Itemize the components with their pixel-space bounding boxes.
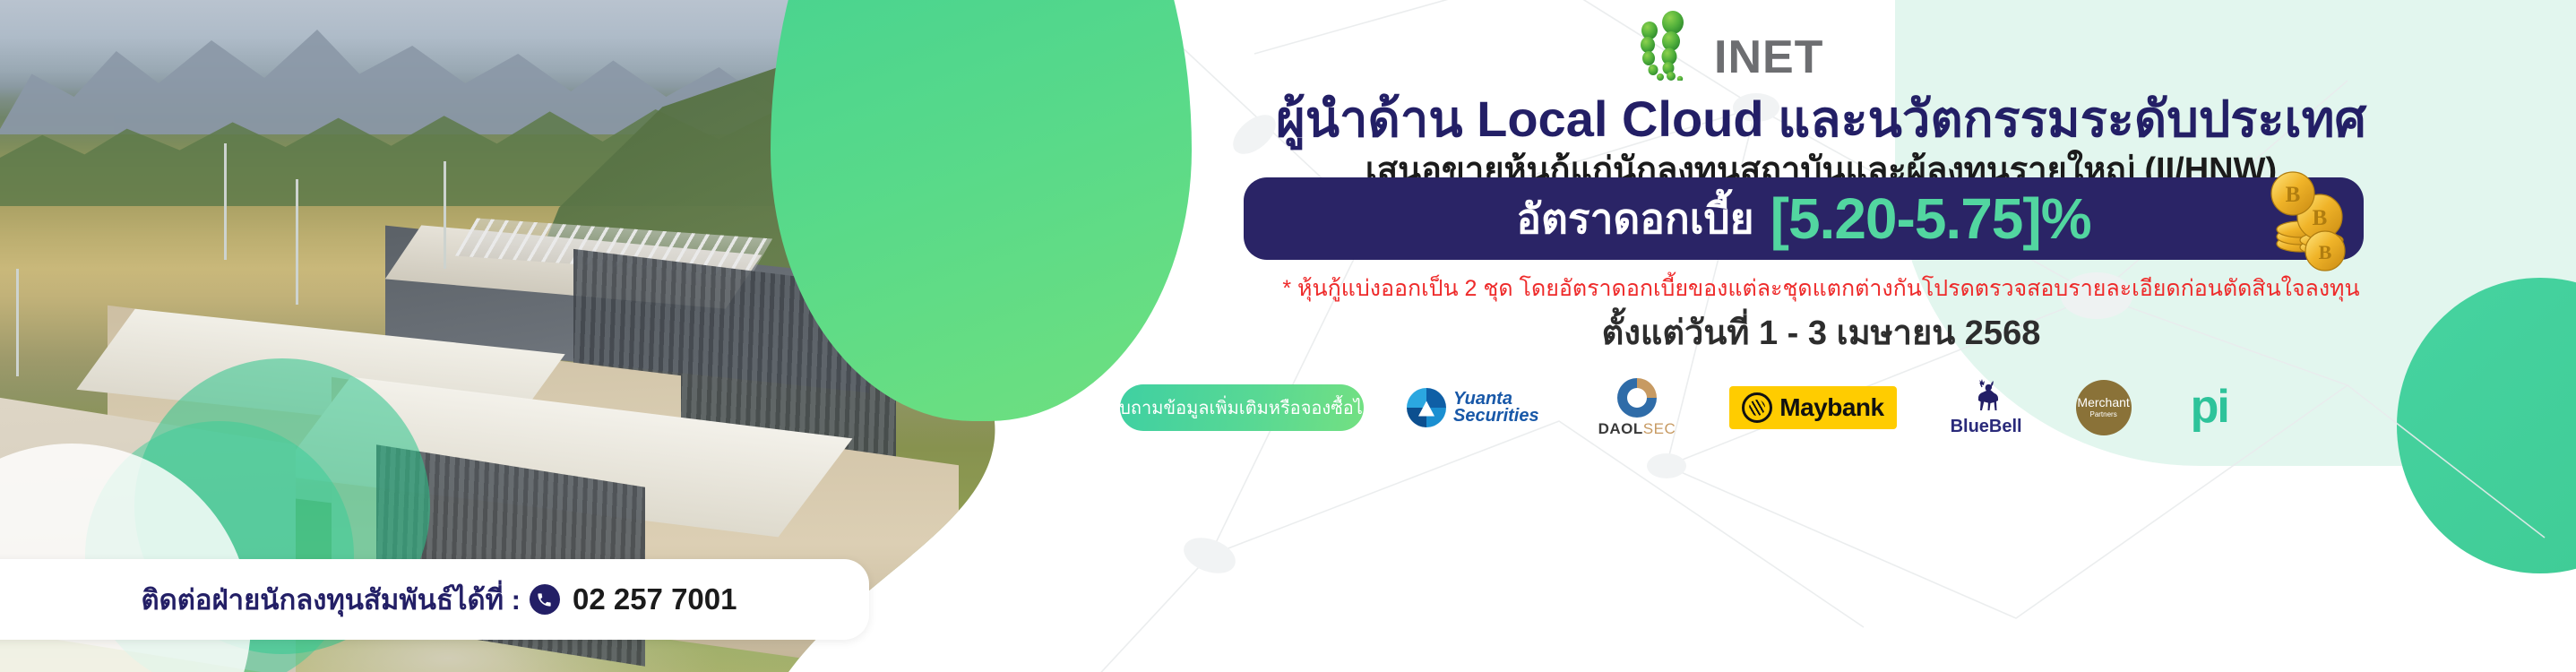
light-pole xyxy=(16,269,19,376)
subscribe-cta-button[interactable]: สอบถามข้อมูลเพิ่มเติมหรือจองซื้อได้ที่ xyxy=(1120,384,1364,431)
svg-text:B: B xyxy=(2313,206,2328,230)
bluebell-deer-icon xyxy=(1971,379,2002,415)
maybank-wordmark: Maybank xyxy=(1779,393,1883,422)
daol-name: DAOL xyxy=(1598,420,1643,437)
interest-rate-banner: อัตราดอกเบี้ย [5.20-5.75]% xyxy=(1244,177,2364,260)
merchant-name-line1: Merchant xyxy=(2077,396,2129,409)
svg-text:B: B xyxy=(2286,183,2301,207)
bluebell-wordmark: BlueBell xyxy=(1951,417,2022,437)
partner-logo-maybank[interactable]: Maybank xyxy=(1729,386,1896,429)
inet-logo-wordmark: INET xyxy=(1714,30,1823,84)
inet-logo-dots-icon xyxy=(1617,11,1725,81)
light-pole xyxy=(444,161,446,269)
gold-coins-icon: B B B xyxy=(2243,158,2359,274)
phone-icon xyxy=(530,584,560,615)
investor-relations-contact: ติดต่อฝ่ายนักลงทุนสัมพันธ์ได้ที่ : 02 25… xyxy=(0,559,869,640)
partner-logo-daol[interactable]: DAOLSEC xyxy=(1598,378,1676,438)
yuanta-mark-icon xyxy=(1407,388,1446,427)
merchant-name-line2: Partners xyxy=(2089,410,2116,419)
bond-disclaimer: * หุ้นกู้แบ่งออกเป็น 2 ชุด โดยอัตราดอกเบ… xyxy=(1066,271,2576,306)
yuanta-name-line2: Securities xyxy=(1453,408,1539,425)
partners-row: สอบถามข้อมูลเพิ่มเติมหรือจองซื้อได้ที่ Y… xyxy=(1120,369,2572,446)
light-pole xyxy=(224,143,227,260)
offering-date-range: ตั้งแต่วันที่ 1 - 3 เมษายน 2568 xyxy=(1066,305,2576,359)
daol-mark-icon xyxy=(1617,378,1657,418)
daol-suffix: SEC xyxy=(1643,420,1676,437)
interest-rate-value: [5.20-5.75]% xyxy=(1770,185,2091,252)
daol-wordmark: DAOLSEC xyxy=(1598,420,1676,438)
contact-label: ติดต่อฝ่ายนักลงทุนสัมพันธ์ได้ที่ : xyxy=(142,577,521,622)
partner-logo-yuanta[interactable]: Yuanta Securities xyxy=(1407,388,1539,427)
partner-logo-merchant-partners[interactable]: Merchant Partners xyxy=(2076,380,2132,435)
partner-logo-pi[interactable]: pi xyxy=(2191,389,2228,426)
svg-text:B: B xyxy=(2319,241,2332,263)
contact-phone-number[interactable]: 02 257 7001 xyxy=(573,582,737,616)
promo-banner: ติดต่อฝ่ายนักลงทุนสัมพันธ์ได้ที่ : 02 25… xyxy=(0,0,2576,672)
promo-content: INET ผู้นำด้าน Local Cloud และนวัตกรรมระ… xyxy=(1066,0,2576,672)
yuanta-wordmark: Yuanta Securities xyxy=(1453,391,1539,425)
inet-logo: INET xyxy=(1617,11,1922,81)
maybank-tiger-icon xyxy=(1742,392,1772,423)
interest-rate-label: อัตราดอกเบี้ย xyxy=(1516,186,1753,252)
partner-logo-bluebell[interactable]: BlueBell xyxy=(1951,379,2022,437)
pi-wordmark: pi xyxy=(2191,389,2228,426)
light-pole xyxy=(296,179,298,305)
